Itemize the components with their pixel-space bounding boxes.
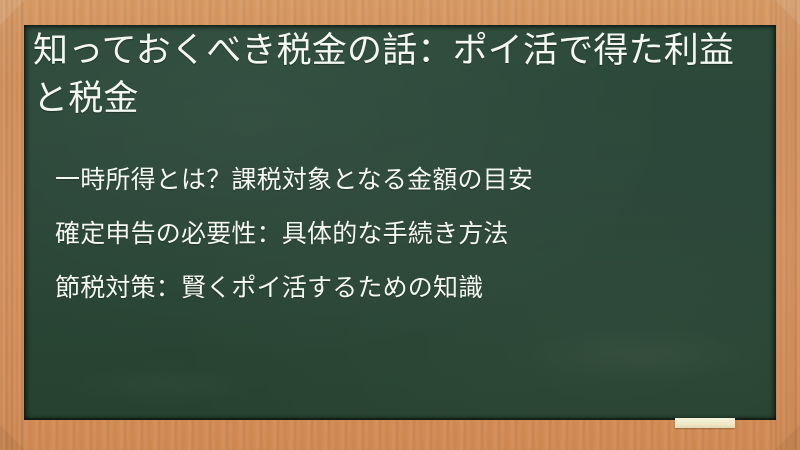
board-point-3: 節税対策：賢くポイ活するための知識 [55,261,755,315]
frame-corner-top-left [0,0,25,25]
board-title: 知っておくべき税金の話：ポイ活で得た利益と税金 [33,27,748,123]
frame-plank-right [774,0,800,450]
frame-plank-left [0,0,26,450]
frame-corner-bottom-right [775,425,800,450]
board-point-2: 確定申告の必要性：具体的な手続き方法 [55,207,755,261]
blackboard-wooden-frame: 知っておくべき税金の話：ポイ活で得た利益と税金 一時所得とは？課税対象となる金額… [0,0,800,450]
board-points-list: 一時所得とは？課税対象となる金額の目安 確定申告の必要性：具体的な手続き方法 節… [55,153,755,315]
chalk-stick-icon [675,418,735,428]
frame-corner-top-right [775,0,800,25]
chalk-tray-edge [24,418,776,420]
board-point-1: 一時所得とは？課税対象となる金額の目安 [55,153,755,207]
chalkboard-surface: 知っておくべき税金の話：ポイ活で得た利益と税金 一時所得とは？課税対象となる金額… [24,25,776,420]
frame-corner-bottom-left [0,425,25,450]
